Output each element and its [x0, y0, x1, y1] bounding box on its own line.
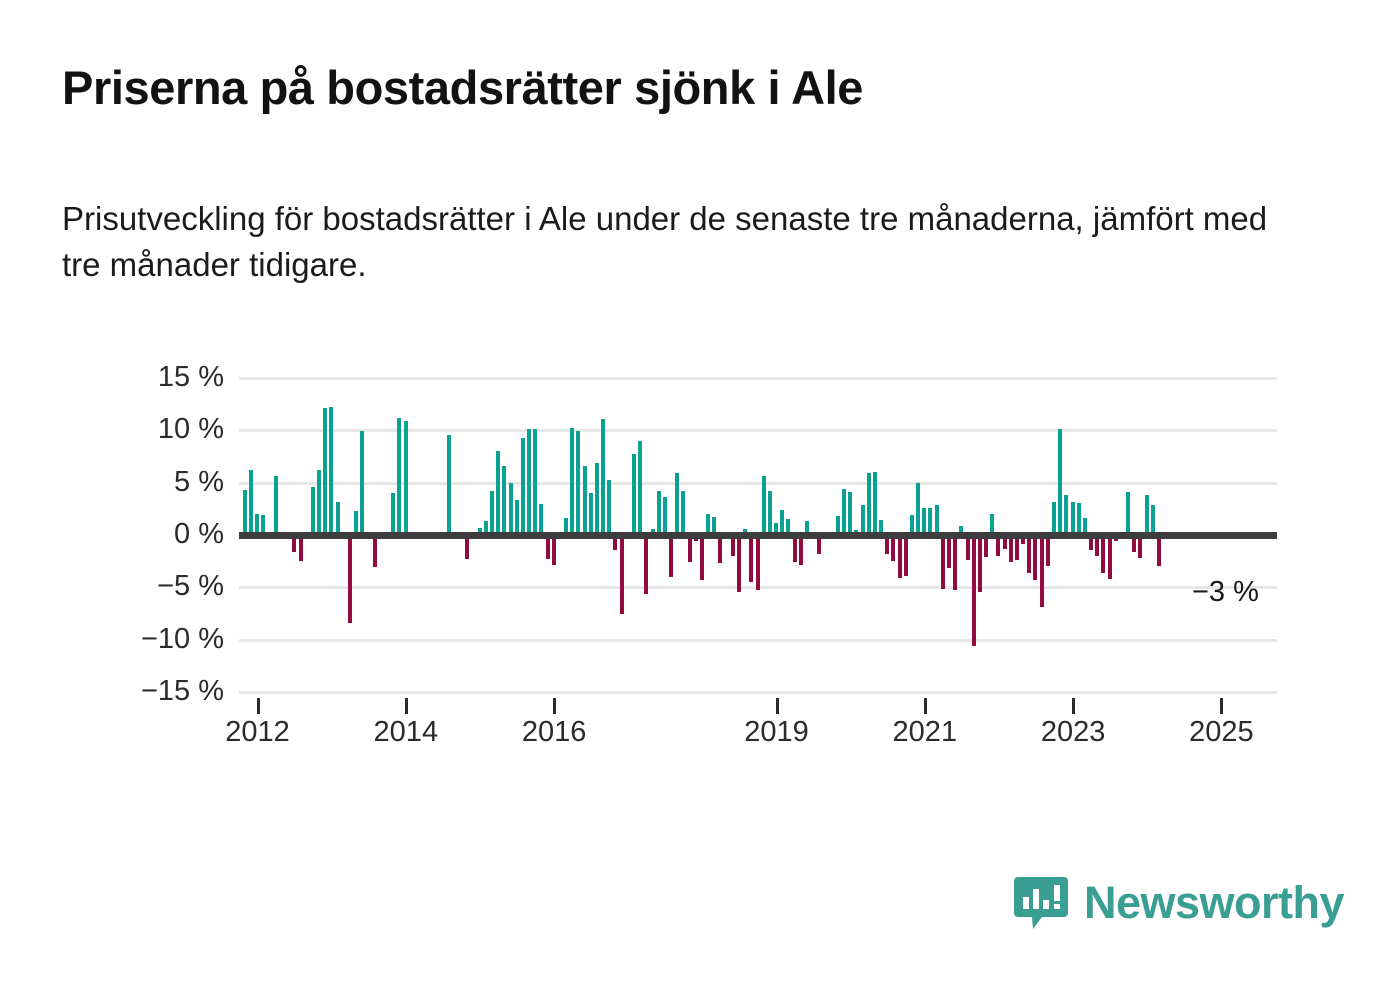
bar: [718, 535, 722, 563]
bar: [644, 535, 648, 594]
bar: [848, 492, 852, 535]
bar: [793, 535, 797, 562]
bar: [675, 473, 679, 535]
bar: [360, 431, 364, 535]
bar: [638, 441, 642, 535]
bar: [737, 535, 741, 592]
bar: [552, 535, 556, 565]
bar: [397, 418, 401, 535]
bar: [632, 454, 636, 535]
y-tick-label: −10 %: [141, 625, 224, 654]
bar: [620, 535, 624, 614]
y-tick-label: 10 %: [158, 415, 224, 444]
bar: [953, 535, 957, 590]
bar: [1033, 535, 1037, 580]
y-tick-label: −15 %: [141, 677, 224, 706]
bar: [515, 500, 519, 535]
bar: [1077, 503, 1081, 535]
bar: [1040, 535, 1044, 607]
bar: [249, 470, 253, 535]
x-tick-mark: [924, 698, 927, 714]
bar: [922, 508, 926, 535]
bar: [323, 408, 327, 535]
bar: [527, 429, 531, 535]
bar: [533, 429, 537, 535]
bar: [762, 476, 766, 535]
bar: [1108, 535, 1112, 579]
bar: [589, 493, 593, 535]
bar: [928, 508, 932, 535]
bar: [595, 463, 599, 535]
bar: [935, 505, 939, 535]
bar: [916, 483, 920, 535]
bar: [688, 535, 692, 562]
bar: [373, 535, 377, 567]
bar: [447, 435, 451, 535]
x-tick-label: 2012: [225, 718, 290, 747]
bar: [1009, 535, 1013, 562]
bar: [898, 535, 902, 578]
x-tick-mark: [1072, 698, 1075, 714]
bar: [274, 476, 278, 535]
bar: [1064, 495, 1068, 535]
bar: [404, 421, 408, 535]
bar: [583, 466, 587, 535]
bar: [521, 438, 525, 535]
bar: [749, 535, 753, 582]
x-tick-label: 2023: [1041, 718, 1106, 747]
bar: [329, 407, 333, 535]
y-tick-label: 5 %: [174, 468, 224, 497]
bar: [1145, 495, 1149, 535]
bar: [502, 466, 506, 535]
bar: [669, 535, 673, 577]
bar: [867, 473, 871, 535]
bar: [904, 535, 908, 576]
bar: [348, 535, 352, 623]
bar: [336, 502, 340, 535]
bar: [657, 491, 661, 535]
chart-page: Priserna på bostadsrätter sjönk i Ale Pr…: [0, 0, 1382, 999]
x-tick-label: 2021: [893, 718, 958, 747]
bar-chart: 15 %10 %5 %0 %−5 %−10 %−15 % 20122014201…: [0, 0, 1382, 999]
x-tick-mark: [1220, 698, 1223, 714]
bar: [861, 505, 865, 535]
bar: [1101, 535, 1105, 573]
bar: [799, 535, 803, 565]
x-tick-label: 2025: [1189, 718, 1254, 747]
bar: [391, 493, 395, 535]
zero-line: [239, 532, 1277, 539]
bar: [1126, 492, 1130, 535]
bar: [941, 535, 945, 589]
bar-chart-speech-bubble-icon: [1012, 873, 1070, 931]
bar: [1071, 502, 1075, 535]
bar: [601, 419, 605, 535]
bar: [490, 491, 494, 535]
last-value-annotation: −3 %: [1192, 578, 1259, 607]
x-tick-mark: [405, 698, 408, 714]
logo-wordmark: Newsworthy: [1084, 880, 1344, 925]
bar: [700, 535, 704, 580]
bar: [576, 431, 580, 535]
newsworthy-logo: Newsworthy: [1012, 873, 1344, 931]
bar: [1157, 535, 1161, 566]
bar: [756, 535, 760, 590]
x-tick-label: 2014: [374, 718, 439, 747]
bar: [972, 535, 976, 646]
x-tick-label: 2019: [744, 718, 809, 747]
bar: [768, 491, 772, 535]
bar: [509, 483, 513, 535]
bar: [681, 491, 685, 535]
x-tick-mark: [553, 698, 556, 714]
x-tick-label: 2016: [522, 718, 587, 747]
bar: [311, 487, 315, 535]
bar: [978, 535, 982, 592]
bar: [539, 504, 543, 535]
y-tick-label: −5 %: [157, 572, 224, 601]
bar: [1027, 535, 1031, 573]
bar: [1151, 505, 1155, 535]
y-tick-label: 0 %: [174, 520, 224, 549]
y-tick-label: 15 %: [158, 363, 224, 392]
bar: [663, 497, 667, 535]
bar: [570, 428, 574, 535]
bar: [1058, 429, 1062, 535]
bar: [947, 535, 951, 568]
bar: [1052, 502, 1056, 535]
bar: [842, 489, 846, 535]
bar: [607, 480, 611, 535]
x-tick-mark: [257, 698, 260, 714]
bar: [873, 472, 877, 535]
bar: [317, 470, 321, 535]
bar: [1046, 535, 1050, 566]
bar: [243, 490, 247, 535]
x-tick-mark: [776, 698, 779, 714]
bar: [496, 451, 500, 535]
